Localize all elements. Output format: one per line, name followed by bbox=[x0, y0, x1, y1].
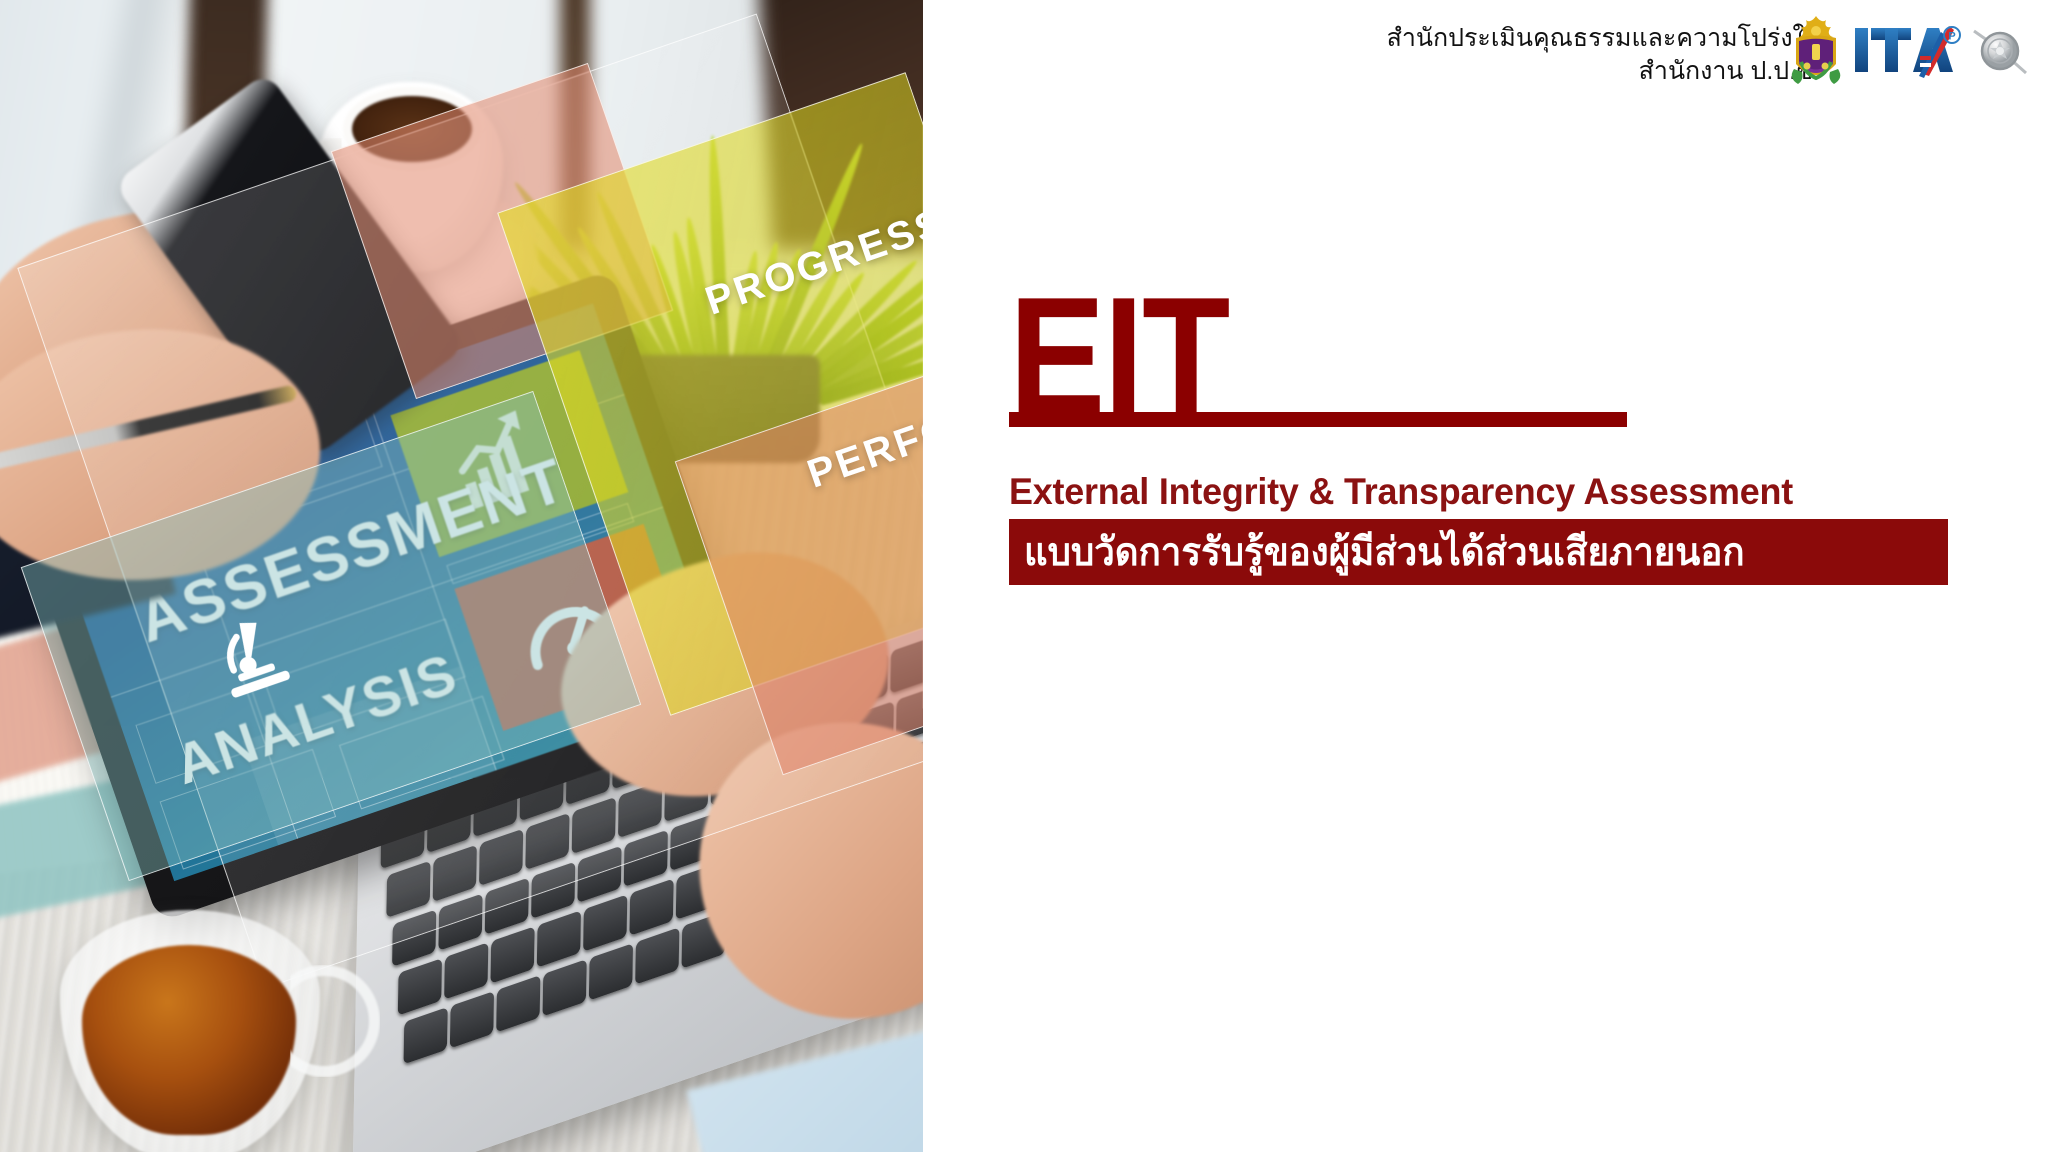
nacc-emblem-logo bbox=[1788, 14, 1844, 88]
tea-liquid bbox=[82, 945, 296, 1135]
silver-seal-magnifier-logo bbox=[1970, 21, 2030, 81]
subtitle-thai-banner: แบบวัดการรับรู้ของผู้มีส่วนได้ส่วนเสียภา… bbox=[1009, 519, 1948, 585]
subtitle-english: External Integrity & Transparency Assess… bbox=[1009, 471, 1793, 513]
content-panel: สำนักประเมินคุณธรรมและความโปร่งใส สำนักง… bbox=[923, 0, 2048, 1152]
slide-root: /* blades injected below */ bbox=[0, 0, 2048, 1152]
org-line-2: สำนักงาน ป.ป.ช. bbox=[1387, 55, 1820, 88]
org-line-1: สำนักประเมินคุณธรรมและความโปร่งใส bbox=[1387, 22, 1820, 55]
logo-group: P bbox=[1788, 14, 2030, 88]
hero-photo: /* blades injected below */ bbox=[0, 0, 923, 1152]
title-underline-rule bbox=[1009, 412, 1627, 427]
subtitle-thai-text: แบบวัดการรับรู้ของผู้มีส่วนได้ส่วนเสียภา… bbox=[1009, 521, 1745, 583]
organization-header: สำนักประเมินคุณธรรมและความโปร่งใส สำนักง… bbox=[1387, 22, 1820, 87]
svg-text:P: P bbox=[1948, 31, 1955, 43]
ita-logo: P bbox=[1853, 22, 1961, 80]
